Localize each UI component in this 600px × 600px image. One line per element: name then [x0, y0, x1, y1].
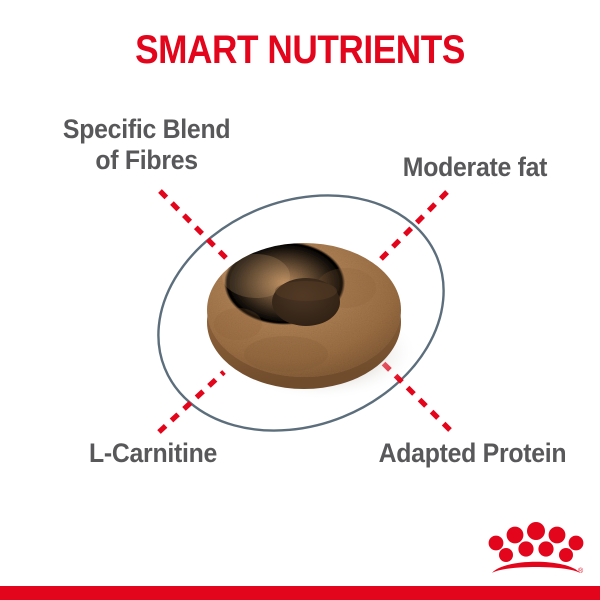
- kibble-illustration: [196, 228, 426, 408]
- crown-icon: ®: [488, 521, 584, 577]
- kibble-hole-highlight: [275, 281, 337, 301]
- callout-label-adapted-protein: Adapted Protein: [360, 438, 585, 469]
- callout-label-moderate-fat: Moderate fat: [369, 152, 581, 183]
- registered-mark: ®: [578, 567, 584, 575]
- page-title: SMART NUTRIENTS: [36, 28, 564, 72]
- royal-canin-crown-logo: ®: [488, 521, 584, 577]
- footer-red-bar: [0, 586, 600, 600]
- kibble-image: [196, 228, 426, 408]
- infographic-canvas: SMART NUTRIENTS: [0, 0, 600, 600]
- callout-label-specific-blend-of-fibres: Specific Blend of Fibres: [32, 114, 262, 176]
- callout-label-l-carnitine: L-Carnitine: [38, 438, 268, 469]
